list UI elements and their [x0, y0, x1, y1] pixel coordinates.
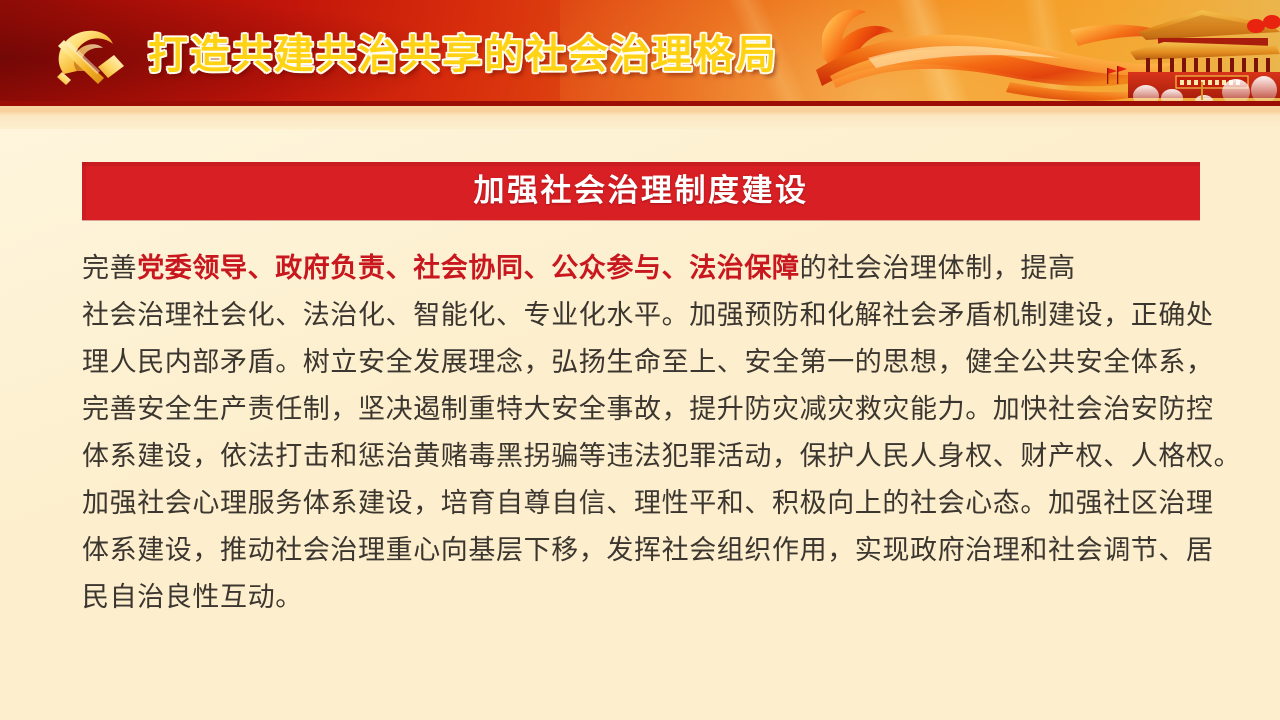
body-paragraph: 完善党委领导、政府负责、社会协同、公众参与、法治保障的社会治理体制，提高 社会治…	[82, 245, 1194, 621]
paragraph-line: 体系建设，推动社会治理重心向基层下移，发挥社会组织作用，实现政府治理和社会调节、…	[82, 527, 1194, 574]
plain-run: 民自治良性互动。	[82, 582, 303, 613]
paragraph-line: 体系建设，依法打击和惩治黄赌毒黑拐骗等违法犯罪活动，保护人民人身权、财产权、人格…	[82, 433, 1194, 480]
party-emblem-hammer-sickle-icon	[42, 24, 134, 88]
header-fade-divider	[0, 115, 1280, 129]
plain-run: 体系建设，推动社会治理重心向基层下移，发挥社会组织作用，实现政府治理和社会调节、…	[82, 535, 1214, 566]
plain-run: 体系建设，依法打击和惩治黄赌毒黑拐骗等违法犯罪活动，保护人民人身权、财产权、人格…	[82, 441, 1241, 472]
paragraph-line: 完善安全生产责任制，坚决遏制重特大安全事故，提升防灾减灾救灾能力。加快社会治安防…	[82, 386, 1194, 433]
paragraph-line: 理人民内部矛盾。树立安全发展理念，弘扬生命至上、安全第一的思想，健全公共安全体系…	[82, 339, 1194, 386]
section-title-banner: 加强社会治理制度建设	[82, 162, 1200, 220]
paragraph-line: 民自治良性互动。	[82, 574, 1194, 621]
plain-run: 的社会治理体制，提高	[800, 253, 1076, 284]
plain-run: 理人民内部矛盾。树立安全发展理念，弘扬生命至上、安全第一的思想，健全公共安全体系…	[82, 347, 1214, 378]
plain-run: 完善	[82, 253, 137, 284]
slide-header-banner: 打造共建共治共享的社会治理格局	[0, 0, 1280, 106]
section-title-text: 加强社会治理制度建设	[474, 172, 809, 210]
plain-run: 完善安全生产责任制，坚决遏制重特大安全事故，提升防灾减灾救灾能力。加快社会治安防…	[82, 394, 1214, 425]
paragraph-line: 加强社会心理服务体系建设，培育自尊自信、理性平和、积极向上的社会心态。加强社区治…	[82, 480, 1194, 527]
plain-run: 社会治理社会化、法治化、智能化、专业化水平。加强预防和化解社会矛盾机制建设，正确…	[82, 300, 1214, 331]
paragraph-line: 完善党委领导、政府负责、社会协同、公众参与、法治保障的社会治理体制，提高	[82, 245, 1194, 292]
plain-run: 加强社会心理服务体系建设，培育自尊自信、理性平和、积极向上的社会心态。加强社区治…	[82, 488, 1214, 519]
header-tan-divider	[0, 106, 1280, 115]
banner-top-shade	[82, 162, 1200, 166]
slide-canvas: 打造共建共治共享的社会治理格局	[0, 0, 1280, 720]
tiananmen-gate-icon	[1084, 2, 1280, 106]
header-title: 打造共建共治共享的社会治理格局	[148, 30, 778, 80]
silk-ribbon-decoration-icon	[770, 0, 1190, 106]
banner-left-shade	[82, 162, 86, 220]
emphasised-run: 党委领导、政府负责、社会协同、公众参与、法治保障	[137, 253, 799, 284]
paragraph-line: 社会治理社会化、法治化、智能化、专业化水平。加强预防和化解社会矛盾机制建设，正确…	[82, 292, 1194, 339]
